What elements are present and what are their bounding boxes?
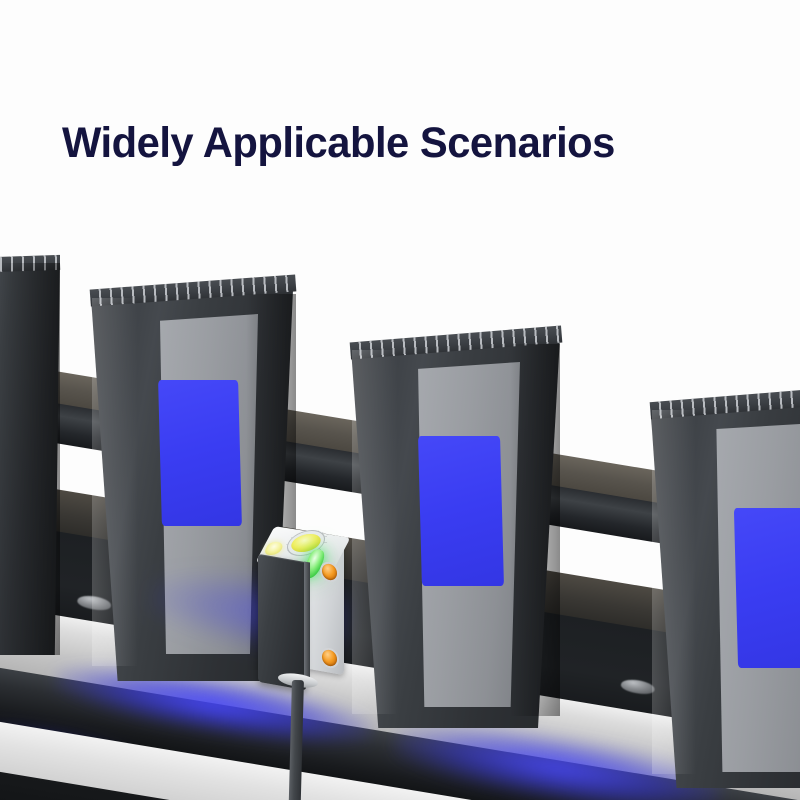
pouch-3: [340, 328, 565, 728]
sensor-front-face: [258, 554, 306, 690]
pouch-1: [0, 255, 60, 655]
pouch-blue-label: [418, 436, 504, 586]
pouch-highlight: [92, 298, 138, 666]
pouch-4: [640, 388, 800, 788]
pouch-blue-label: [158, 380, 242, 526]
pouch-highlight: [352, 350, 398, 714]
pouch-shadow-side: [510, 344, 560, 716]
pouch-highlight: [652, 410, 696, 774]
photoelectric-sensor[interactable]: [246, 528, 356, 708]
scene-root: Widely Applicable Scenarios: [0, 0, 800, 800]
pouch-blue-label: [734, 508, 800, 668]
page-title: Widely Applicable Scenarios: [62, 118, 615, 168]
pouch-shadow-side: [0, 263, 60, 655]
sensor-side-edge: [304, 561, 310, 684]
